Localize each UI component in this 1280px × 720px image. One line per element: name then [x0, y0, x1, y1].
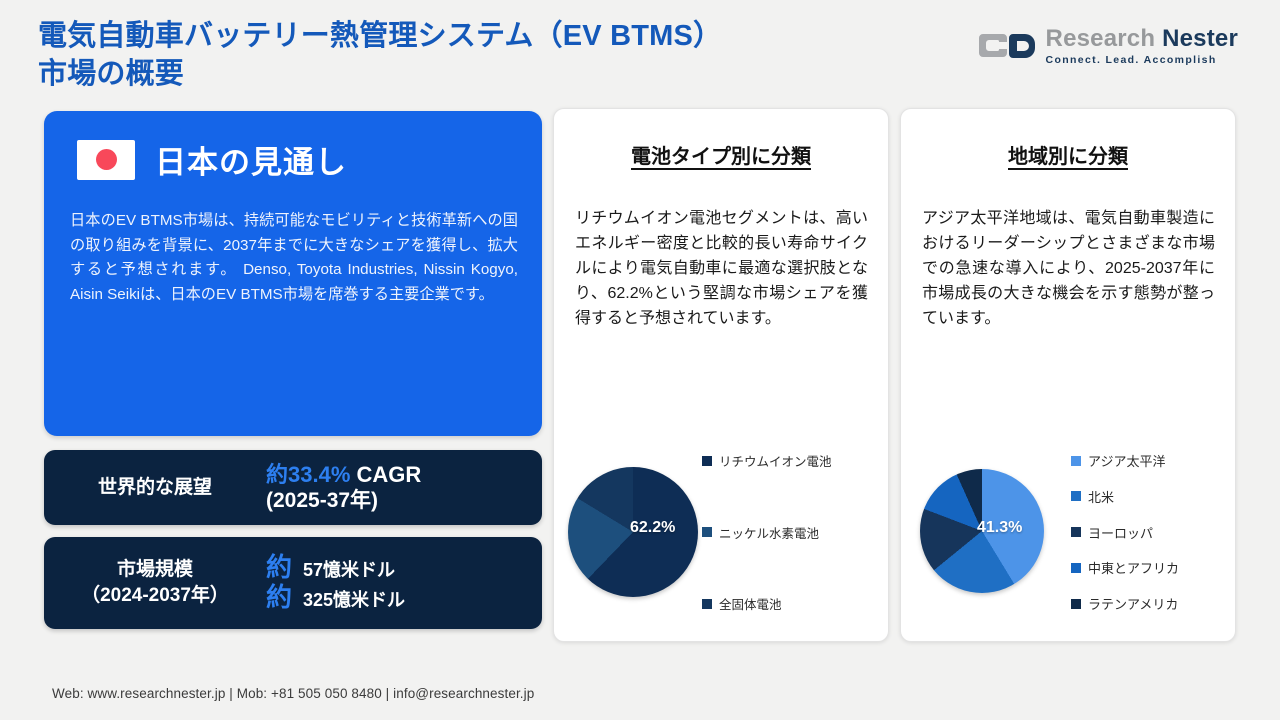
battery-chart-area: 62.2% リチウムイオン電池ニッケル水素電池全固体電池	[554, 445, 888, 625]
cagr-period: (2025-37年)	[266, 488, 542, 513]
footer-contact: Web: www.researchnester.jp | Mob: +81 50…	[52, 686, 534, 701]
region-panel-body: アジア太平洋地域は、電気自動車製造におけるリーダーシップとさまざまな市場での急速…	[922, 207, 1215, 332]
cagr-accent: 約33.4%	[266, 462, 350, 487]
page-title-line-2: 市場の概要	[38, 56, 938, 94]
market-size-values: 約 57憶米ドル 約 325憶米ドル	[266, 552, 542, 614]
legend-swatch-icon	[702, 599, 712, 609]
region-chart-area: 41.3% アジア太平洋北米ヨーロッパ中東とアフリカラテンアメリカ	[901, 445, 1235, 625]
legend-swatch-icon	[702, 527, 712, 537]
market-size-label-line-1: 市場規模	[44, 557, 266, 583]
legend-swatch-icon	[1071, 491, 1081, 501]
battery-pie-chart: 62.2%	[568, 467, 698, 597]
legend-swatch-icon	[702, 456, 712, 466]
logo-word-research: Research	[1046, 25, 1163, 52]
market-size-value-1: 325憶米ドル	[303, 586, 405, 612]
page-title: 電気自動車バッテリー熱管理システム（EV BTMS） 市場の概要	[38, 18, 938, 93]
legend-item: リチウムイオン電池	[702, 451, 832, 470]
cagr-unit: CAGR	[350, 462, 421, 487]
global-outlook-label: 世界的な展望	[44, 475, 266, 501]
global-outlook-value: 約33.4% CAGR (2025-37年)	[266, 462, 542, 512]
legend-item: ラテンアメリカ	[1071, 594, 1179, 613]
market-size-row: 約 325憶米ドル	[266, 584, 542, 612]
battery-panel-body: リチウムイオン電池セグメントは、高いエネルギー密度と比較的長い寿命サイクルにより…	[575, 207, 868, 332]
japan-card-header: 日本の見通し	[44, 111, 542, 182]
legend-item: ニッケル水素電池	[702, 523, 832, 542]
japan-flag-icon	[77, 140, 135, 180]
market-size-card: 市場規模 （2024-2037年） 約 57憶米ドル 約 325憶米ドル	[44, 537, 542, 629]
logo-text: Research Nester Connect. Lead. Accomplis…	[1046, 27, 1238, 66]
legend-item: アジア太平洋	[1071, 451, 1179, 470]
legend-item: 全固体電池	[702, 594, 832, 613]
japan-card-heading: 日本の見通し	[155, 137, 347, 182]
logo-tagline: Connect. Lead. Accomplish	[1046, 55, 1238, 66]
cagr-line: 約33.4% CAGR	[266, 462, 542, 487]
slide-root: 電気自動車バッテリー熱管理システム（EV BTMS） 市場の概要 Researc…	[0, 0, 1280, 720]
page-title-line-1: 電気自動車バッテリー熱管理システム（EV BTMS）	[38, 18, 938, 56]
region-pie-chart: 41.3%	[920, 469, 1044, 593]
brand-logo: Research Nester Connect. Lead. Accomplis…	[979, 26, 1238, 66]
legend-label: ニッケル水素電池	[719, 523, 819, 542]
market-size-row: 約 57憶米ドル	[266, 554, 542, 582]
market-size-approx-0: 約	[266, 554, 292, 580]
region-panel: 地域別に分類 アジア太平洋地域は、電気自動車製造におけるリーダーシップとさまざま…	[900, 108, 1236, 642]
region-pie-data-label: 41.3%	[977, 519, 1022, 537]
market-size-value-0: 57憶米ドル	[303, 556, 395, 582]
japan-card-body: 日本のEV BTMS市場は、持続可能なモビリティと技術革新への国の取り組みを背景…	[70, 209, 518, 308]
legend-label: アジア太平洋	[1088, 451, 1165, 470]
interlocking-links-logo-icon	[979, 26, 1037, 66]
japan-outlook-card: 日本の見通し 日本のEV BTMS市場は、持続可能なモビリティと技術革新への国の…	[44, 111, 542, 436]
logo-word-nester: Nester	[1162, 25, 1238, 52]
battery-type-panel: 電池タイプ別に分類 リチウムイオン電池セグメントは、高いエネルギー密度と比較的長…	[553, 108, 889, 642]
logo-wordmark: Research Nester	[1046, 27, 1238, 51]
legend-label: 北米	[1088, 487, 1114, 506]
legend-item: ヨーロッパ	[1071, 523, 1179, 542]
region-panel-title: 地域別に分類	[901, 140, 1235, 169]
legend-label: 全固体電池	[719, 594, 782, 613]
legend-item: 北米	[1071, 487, 1179, 506]
region-pie-legend: アジア太平洋北米ヨーロッパ中東とアフリカラテンアメリカ	[1071, 451, 1179, 613]
legend-swatch-icon	[1071, 563, 1081, 573]
battery-pie-legend: リチウムイオン電池ニッケル水素電池全固体電池	[702, 451, 832, 613]
market-size-label: 市場規模 （2024-2037年）	[44, 557, 266, 608]
market-size-approx-1: 約	[266, 584, 292, 610]
battery-pie-data-label: 62.2%	[630, 519, 675, 537]
battery-panel-title: 電池タイプ別に分類	[554, 140, 888, 169]
legend-label: 中東とアフリカ	[1088, 558, 1179, 577]
legend-label: ラテンアメリカ	[1088, 594, 1178, 613]
legend-swatch-icon	[1071, 599, 1081, 609]
legend-swatch-icon	[1071, 527, 1081, 537]
legend-label: リチウムイオン電池	[719, 451, 832, 470]
legend-label: ヨーロッパ	[1088, 523, 1153, 542]
legend-item: 中東とアフリカ	[1071, 558, 1179, 577]
market-size-label-line-2: （2024-2037年）	[44, 583, 266, 609]
legend-swatch-icon	[1071, 456, 1081, 466]
global-outlook-card: 世界的な展望 約33.4% CAGR (2025-37年)	[44, 450, 542, 525]
